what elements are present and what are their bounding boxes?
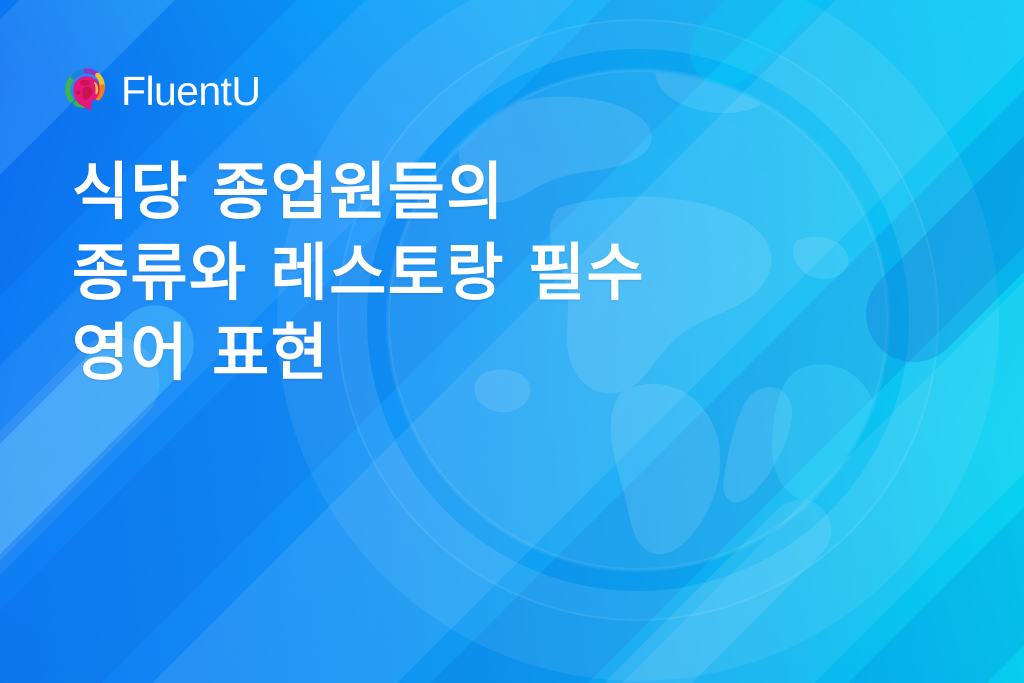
fluentu-globe-speech-bubble-icon	[64, 66, 110, 116]
decor-bar	[675, 0, 1024, 100]
fluentu-wordmark: FluentU	[121, 71, 260, 112]
page-title: 식당 종업원들의 종류와 레스토랑 필수 영어 표현	[72, 152, 902, 394]
title-line-2: 종류와 레스토랑 필수	[72, 233, 902, 314]
title-line-3: 영어 표현	[72, 313, 902, 394]
fluentu-logo[interactable]: FluentU	[64, 66, 260, 116]
decor-bar	[588, 487, 844, 683]
title-line-1: 식당 종업원들의	[72, 152, 902, 233]
featured-image-canvas: FluentU 식당 종업원들의 종류와 레스토랑 필수 영어 표현	[0, 0, 1024, 683]
